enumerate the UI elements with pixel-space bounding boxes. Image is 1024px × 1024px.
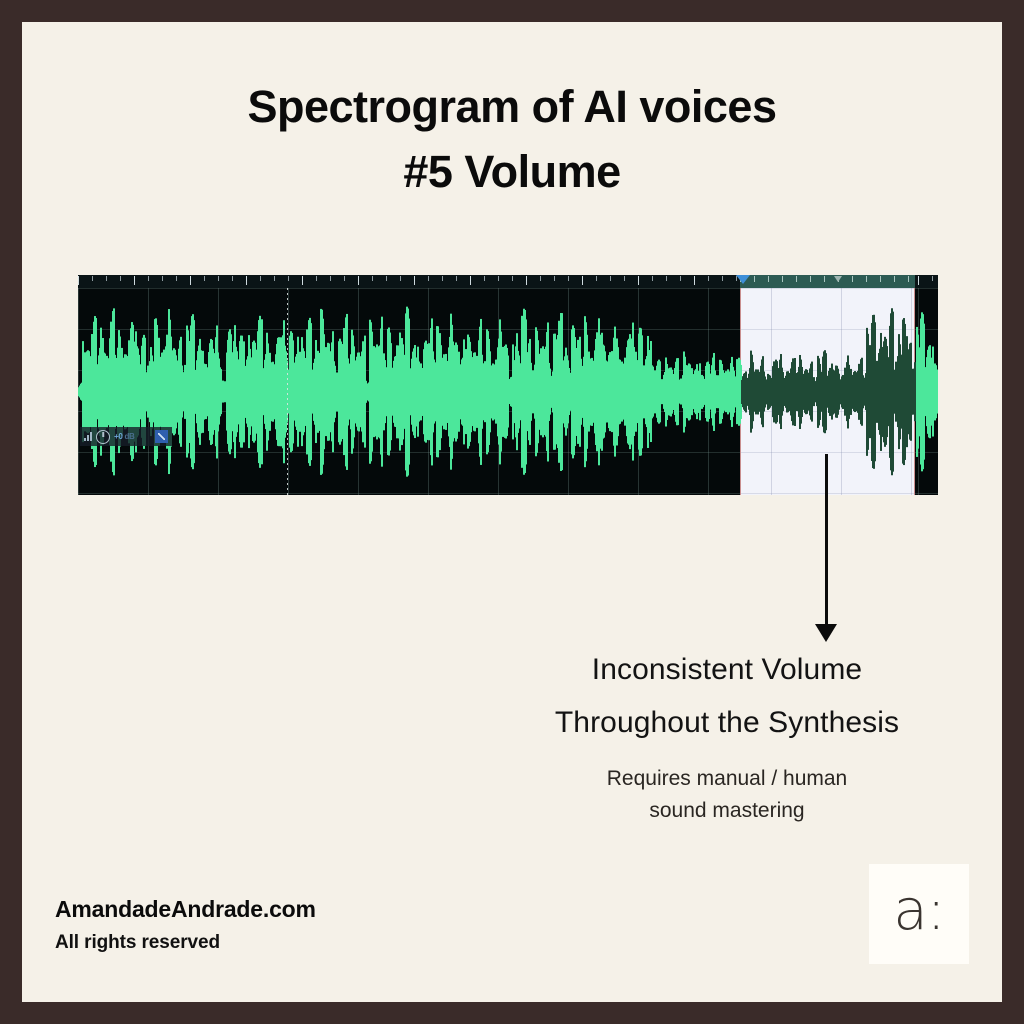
ruler-selection-highlight[interactable] <box>740 275 915 288</box>
footer-brand[interactable]: AmandadeAndrade.com <box>55 896 316 923</box>
playhead-cursor[interactable] <box>287 288 288 495</box>
level-meter-icon <box>84 432 92 441</box>
annotation-subtext-line-1: Requires manual / human <box>462 763 992 795</box>
callout-annotation: Inconsistent Volume Throughout the Synth… <box>462 644 992 826</box>
callout-arrow-head-icon <box>815 624 837 642</box>
waveform-bars <box>78 288 938 495</box>
brand-logo: a: <box>869 864 969 964</box>
waveform-bar <box>937 375 938 408</box>
fx-toggle-icon[interactable] <box>155 430 168 443</box>
gain-value: +0 dB <box>114 432 135 441</box>
title-line-2: #5 Volume <box>22 139 1002 204</box>
callout-arrow-line <box>825 454 828 632</box>
logo-a-colon-icon: a: <box>893 883 944 939</box>
annotation-subtext: Requires manual / human sound mastering <box>462 763 992 826</box>
annotation-subtext-line-2: sound mastering <box>462 795 992 827</box>
gain-knob-icon[interactable] <box>96 430 110 444</box>
annotation-heading-line-1: Inconsistent Volume <box>462 644 992 697</box>
poster-frame: Spectrogram of AI voices #5 Volume <box>22 22 1002 1002</box>
waveform-canvas[interactable]: +0 dB <box>78 288 938 495</box>
audio-waveform-panel[interactable]: +0 dB <box>78 275 938 495</box>
selection-start-marker-icon[interactable] <box>736 275 750 284</box>
page-title: Spectrogram of AI voices #5 Volume <box>22 74 1002 205</box>
footer: AmandadeAndrade.com All rights reserved <box>55 896 316 954</box>
title-line-1: Spectrogram of AI voices <box>22 74 1002 139</box>
annotation-heading-line-2: Throughout the Synthesis <box>462 697 992 750</box>
ruler-selection-ticks <box>740 276 915 282</box>
cue-marker-icon[interactable] <box>834 276 842 282</box>
clip-gain-toolbar[interactable]: +0 dB <box>80 427 172 446</box>
timeline-ruler[interactable] <box>78 275 938 288</box>
footer-rights: All rights reserved <box>55 932 316 954</box>
